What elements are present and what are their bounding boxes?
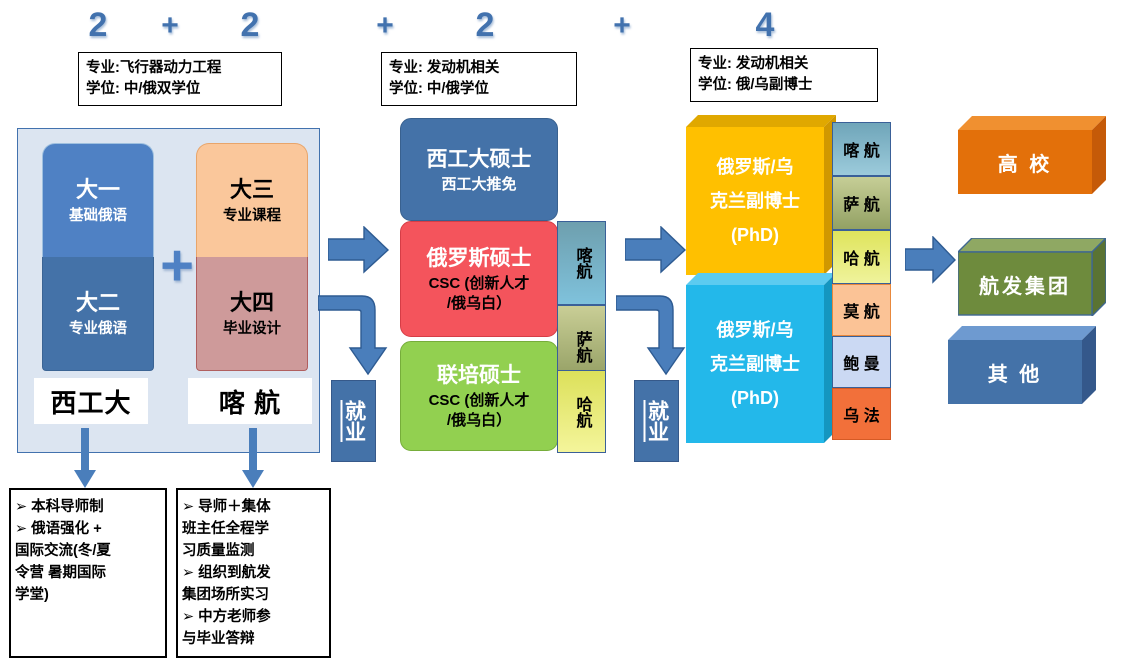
partner-label: 喀 航	[843, 137, 879, 161]
undergrad-year-3[interactable]: 大三 专业课程	[196, 143, 308, 257]
undergrad-year-4[interactable]: 大四 毕业设计	[196, 257, 308, 371]
outcome-label: 高 校	[958, 130, 1092, 194]
job-label-char-1: 就	[646, 400, 669, 421]
outcome-university[interactable]: 高 校	[958, 116, 1106, 194]
year-name: 大四	[230, 288, 274, 318]
phd-option-yellow[interactable]: 俄罗斯/乌 克兰副博士 (PhD)	[686, 115, 836, 275]
spec-callout-undergrad: 专业:飞行器动力工程 学位: 中/俄双学位	[78, 52, 282, 106]
undergrad-plus-icon: +	[152, 237, 202, 295]
phd-line-3: (PhD)	[731, 381, 779, 415]
arrow-undergrad-to-master	[328, 226, 390, 274]
note-line: ➢ 中方老师参	[182, 606, 324, 628]
note-line: ➢ 导师＋集体	[182, 496, 324, 518]
master-title: 联培硕士	[437, 361, 521, 391]
phd-partner-mohang[interactable]: 莫 航	[832, 284, 891, 336]
note-line: ➢ 组织到航发	[182, 562, 324, 584]
partner-label: 萨航	[570, 331, 594, 363]
elbow-arrow-to-job-2	[616, 290, 688, 380]
year-name: 大二	[76, 288, 120, 318]
partner-label: 喀航	[570, 247, 594, 279]
down-arrow-to-note-1	[72, 428, 98, 490]
spec-callout-phd: 专业: 发动机相关 学位: 俄/乌副博士	[690, 48, 878, 102]
counter-plus-3: +	[607, 6, 637, 46]
partner-label: 鲍 曼	[843, 350, 879, 374]
phd-line-2: 克兰副博士	[710, 347, 800, 381]
master-partner-kahang[interactable]: 喀航	[557, 221, 606, 305]
diagram-canvas: 2 + 2 + 2 + 4 专业:飞行器动力工程 学位: 中/俄双学位 专业: …	[0, 0, 1135, 669]
counter-plus-2: +	[370, 6, 400, 46]
job-label-char-1: 就	[343, 400, 366, 421]
outcome-aero-group[interactable]: 航发集团	[958, 238, 1106, 316]
spec-degree-line: 学位: 中/俄双学位	[86, 79, 274, 100]
outcome-other[interactable]: 其 他	[948, 326, 1096, 404]
year-name: 大三	[230, 175, 274, 205]
spec-callout-master: 专业: 发动机相关 学位: 中/俄学位	[381, 52, 577, 106]
partner-label: 莫 航	[843, 298, 879, 322]
year-sub: 专业课程	[223, 205, 281, 227]
phd-line-1: 俄罗斯/乌	[716, 313, 793, 347]
counter-2-second: 2	[230, 5, 270, 45]
arrow-master-to-phd	[625, 226, 687, 274]
spec-major-line: 专业: 发动机相关	[389, 58, 569, 79]
partner-label: 乌 法	[843, 402, 879, 426]
school-label-xigongda: 西工大	[34, 378, 148, 424]
counter-plus-1: +	[155, 6, 185, 46]
job-label-char-2: 业	[646, 421, 669, 442]
partner-label: 哈 航	[843, 245, 879, 269]
note-line: ➢ 俄语强化 +	[15, 518, 160, 540]
phd-partner-baoman[interactable]: 鲍 曼	[832, 336, 891, 388]
counter-2-third: 2	[465, 5, 505, 45]
school-label-kahang: 喀 航	[188, 378, 312, 424]
master-option-russia[interactable]: 俄罗斯硕士 CSC (创新人才 /俄乌白）	[400, 221, 558, 337]
down-arrow-to-note-2	[240, 428, 266, 490]
master-title: 俄罗斯硕士	[427, 244, 532, 274]
year-sub: 毕业设计	[223, 318, 281, 340]
note-line: 令营 暑期国际	[15, 562, 160, 584]
spec-major-line: 专业: 发动机相关	[698, 54, 870, 75]
partner-label: 萨 航	[843, 191, 879, 215]
spec-major-line: 专业:飞行器动力工程	[86, 58, 274, 79]
spec-degree-line: 学位: 俄/乌副博士	[698, 75, 870, 96]
outcome-label: 其 他	[948, 340, 1082, 404]
note-line: 班主任全程学	[182, 518, 324, 540]
partner-label: 哈航	[570, 396, 594, 428]
note-box-training: ➢ 导师＋集体 班主任全程学 习质量监测 ➢ 组织到航发 集团场所实习 ➢ 中方…	[176, 488, 331, 658]
phd-line-2: 克兰副博士	[710, 184, 800, 218]
phd-partner-hahang[interactable]: 哈 航	[832, 230, 891, 284]
counter-4: 4	[745, 5, 785, 45]
master-sub2: /俄乌白）	[447, 294, 511, 314]
job-box-1[interactable]: 就业	[331, 380, 376, 462]
outcome-label: 航发集团	[958, 252, 1092, 316]
phd-partner-sahang[interactable]: 萨 航	[832, 176, 891, 230]
master-sub: CSC (创新人才	[429, 391, 530, 411]
year-sub: 基础俄语	[69, 205, 127, 227]
master-sub: CSC (创新人才	[429, 274, 530, 294]
undergrad-year-2[interactable]: 大二 专业俄语	[42, 257, 154, 371]
spec-degree-line: 学位: 中/俄学位	[389, 79, 569, 100]
job-box-2[interactable]: 就业	[634, 380, 679, 462]
arrow-phd-to-outcomes	[905, 236, 957, 284]
phd-line-1: 俄罗斯/乌	[716, 150, 793, 184]
undergrad-year-1[interactable]: 大一 基础俄语	[42, 143, 154, 257]
master-title: 西工大硕士	[427, 145, 532, 175]
phd-partner-kahang[interactable]: 喀 航	[832, 122, 891, 176]
master-sub: 西工大推免	[441, 175, 516, 195]
note-box-undergrad: ➢ 本科导师制 ➢ 俄语强化 + 国际交流(冬/夏 令营 暑期国际 学堂)	[9, 488, 167, 658]
master-option-joint[interactable]: 联培硕士 CSC (创新人才 /俄乌白）	[400, 341, 558, 451]
year-sub: 专业俄语	[69, 318, 127, 340]
note-line: 与毕业答辩	[182, 628, 324, 650]
master-partner-hahang[interactable]: 哈航	[557, 370, 606, 453]
phd-partner-wufa[interactable]: 乌 法	[832, 388, 891, 440]
year-name: 大一	[76, 175, 120, 205]
note-line: 习质量监测	[182, 540, 324, 562]
note-line: 国际交流(冬/夏	[15, 540, 160, 562]
master-sub2: /俄乌白）	[447, 411, 511, 431]
counter-2-first: 2	[78, 5, 118, 45]
note-line: 学堂)	[15, 584, 160, 606]
job-label-char-2: 业	[343, 421, 366, 442]
note-line: ➢ 本科导师制	[15, 496, 160, 518]
elbow-arrow-to-job-1	[318, 290, 390, 380]
master-option-xigongda[interactable]: 西工大硕士 西工大推免	[400, 118, 558, 221]
phd-option-cyan[interactable]: 俄罗斯/乌 克兰副博士 (PhD)	[686, 273, 836, 443]
note-line: 集团场所实习	[182, 584, 324, 606]
phd-line-3: (PhD)	[731, 218, 779, 252]
